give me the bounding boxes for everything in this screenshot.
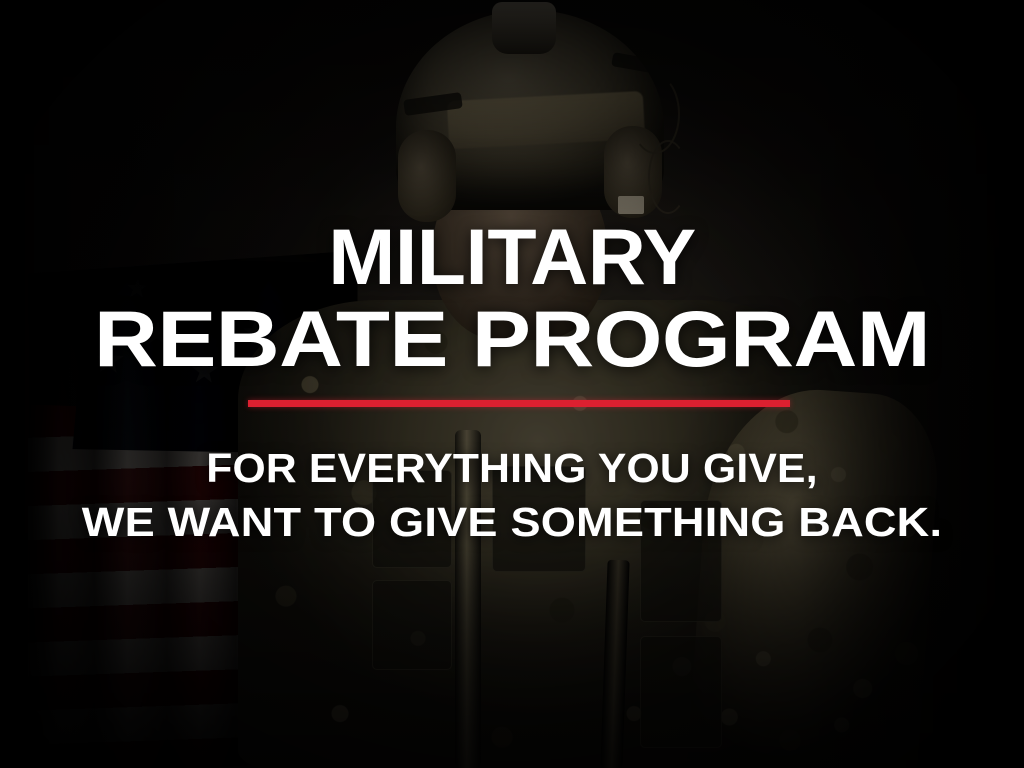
helmet-comms-cable — [648, 140, 688, 214]
helmet-ear-cup — [398, 130, 456, 222]
helmet-id-patch — [618, 196, 644, 214]
background-photo — [0, 0, 1024, 768]
vest-pouch — [492, 466, 586, 572]
vest-pouch — [640, 500, 722, 622]
vest-zipper — [455, 430, 481, 768]
military-rebate-program-poster: MILITARY REBATE PROGRAM FOR EVERYTHING Y… — [0, 0, 1024, 768]
vest-pouch — [640, 636, 722, 748]
night-vision-mount-icon — [492, 2, 556, 54]
vest-pouch — [372, 470, 452, 568]
vest-pouch — [372, 580, 452, 670]
